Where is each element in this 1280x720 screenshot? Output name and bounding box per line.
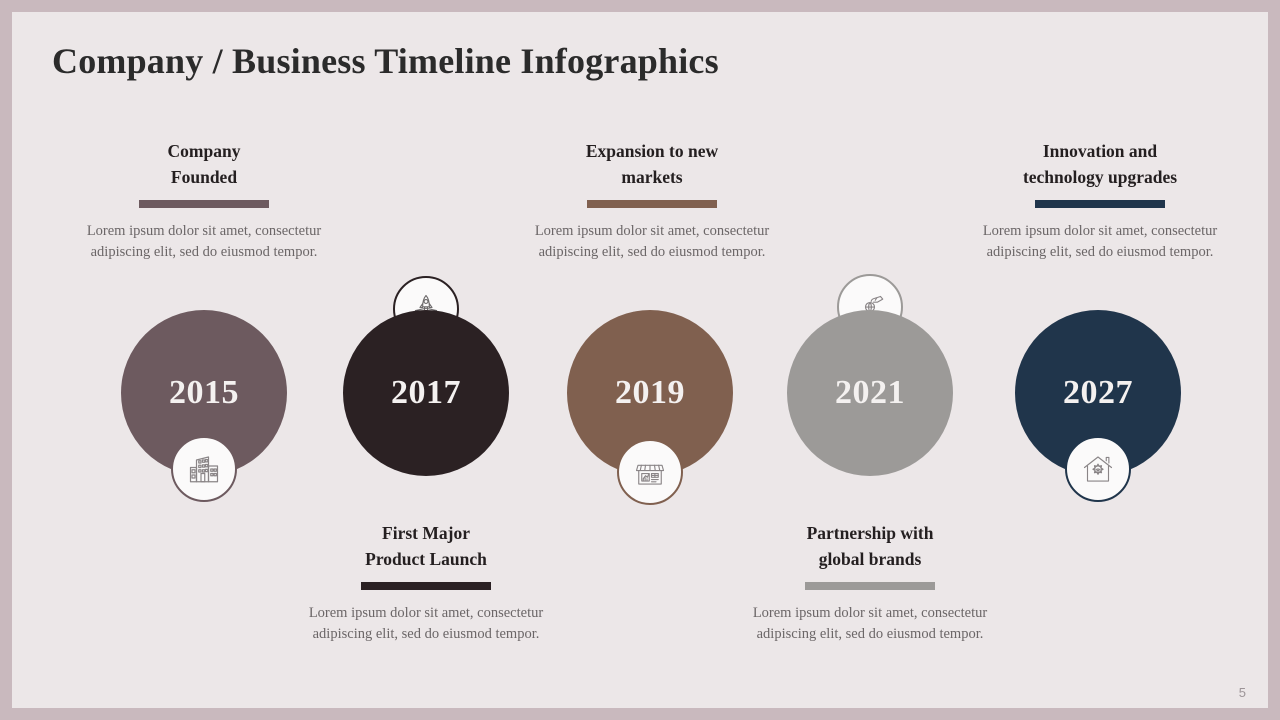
year-label-2027: 2027	[1063, 374, 1133, 412]
milestone-label-block-2017: First Major Product Launch Lorem ipsum d…	[301, 520, 551, 645]
milestone-accent-bar-2027	[1035, 200, 1165, 208]
milestone-description-2027: Lorem ipsum dolor sit amet, consectetur …	[975, 221, 1225, 263]
storefront-growth-icon[interactable]	[617, 439, 683, 505]
milestone-label-block-2015: Company Founded Lorem ipsum dolor sit am…	[79, 138, 329, 263]
year-circle-2017[interactable]: 2017	[343, 310, 509, 476]
milestone-description-2015: Lorem ipsum dolor sit amet, consectetur …	[79, 221, 329, 263]
milestone-title-line2: markets	[527, 164, 777, 190]
milestone-label-block-2021: Partnership with global brands Lorem ips…	[745, 520, 995, 645]
smart-home-gear-icon[interactable]	[1065, 436, 1131, 502]
year-circle-2021[interactable]: 2021	[787, 310, 953, 476]
milestone-title-line1: First Major	[301, 520, 551, 546]
milestone-title-line2: Product Launch	[301, 546, 551, 572]
milestone-title-line2: Founded	[79, 164, 329, 190]
office-building-icon[interactable]	[171, 436, 237, 502]
milestone-title-line1: Expansion to new	[527, 138, 777, 164]
office-building-icon-glyph	[186, 451, 222, 487]
page-title: Company / Business Timeline Infographics	[52, 40, 719, 82]
milestone-title-2015: Company Founded	[79, 138, 329, 190]
milestone-description-2017: Lorem ipsum dolor sit amet, consectetur …	[301, 603, 551, 645]
milestone-accent-bar-2015	[139, 200, 269, 208]
milestone-label-block-2019: Expansion to new markets Lorem ipsum dol…	[527, 138, 777, 263]
slide-canvas: Company / Business Timeline Infographics…	[12, 12, 1268, 708]
milestone-title-line2: technology upgrades	[975, 164, 1225, 190]
year-label-2021: 2021	[835, 374, 905, 412]
milestone-title-line1: Company	[79, 138, 329, 164]
year-label-2015: 2015	[169, 374, 239, 412]
milestone-accent-bar-2017	[361, 582, 491, 590]
milestone-title-2017: First Major Product Launch	[301, 520, 551, 572]
page-number: 5	[1239, 685, 1246, 700]
milestone-accent-bar-2019	[587, 200, 717, 208]
milestone-title-2021: Partnership with global brands	[745, 520, 995, 572]
milestone-title-line1: Innovation and	[975, 138, 1225, 164]
milestone-title-2027: Innovation and technology upgrades	[975, 138, 1225, 190]
year-label-2017: 2017	[391, 374, 461, 412]
milestone-accent-bar-2021	[805, 582, 935, 590]
smart-home-gear-icon-glyph	[1080, 451, 1116, 487]
milestone-title-2019: Expansion to new markets	[527, 138, 777, 190]
storefront-growth-icon-glyph	[632, 454, 668, 490]
milestone-label-block-2027: Innovation and technology upgrades Lorem…	[975, 138, 1225, 263]
milestone-description-2019: Lorem ipsum dolor sit amet, consectetur …	[527, 221, 777, 263]
milestone-title-line1: Partnership with	[745, 520, 995, 546]
milestone-title-line2: global brands	[745, 546, 995, 572]
year-label-2019: 2019	[615, 374, 685, 412]
milestone-description-2021: Lorem ipsum dolor sit amet, consectetur …	[745, 603, 995, 645]
